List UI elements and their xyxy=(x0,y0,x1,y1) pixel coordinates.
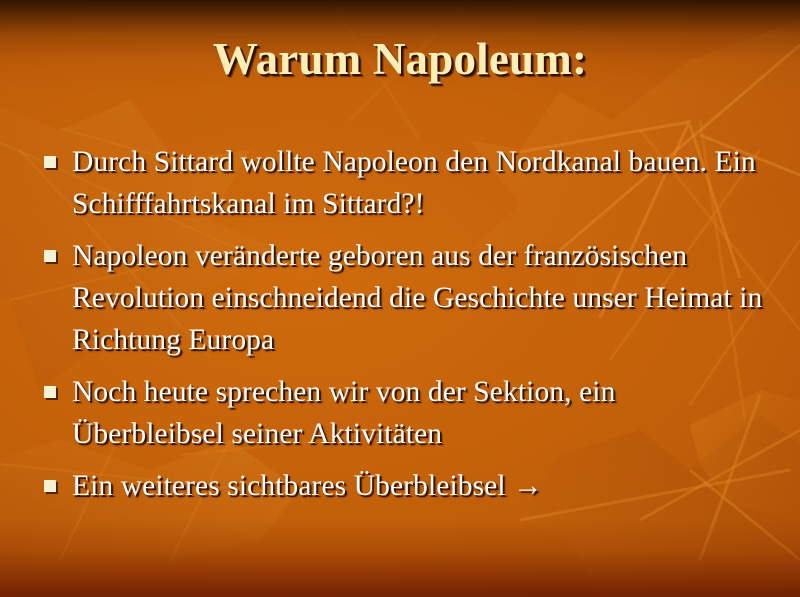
presentation-slide: Warum Napoleum: Durch Sittard wollte Nap… xyxy=(0,0,800,597)
list-item: Napoleon veränderte geboren aus der fran… xyxy=(36,235,766,361)
list-item: Noch heute sprechen wir von der Sektion,… xyxy=(36,371,766,455)
list-item: Ein weiteres sichtbares Überbleibsel → xyxy=(36,465,766,507)
square-bullet-icon xyxy=(44,480,56,492)
square-bullet-icon xyxy=(44,250,56,262)
list-item-text: Noch heute sprechen wir von der Sektion,… xyxy=(72,371,766,455)
list-item-text: Napoleon veränderte geboren aus der fran… xyxy=(72,235,766,361)
bottom-vignette xyxy=(0,519,800,597)
square-bullet-icon xyxy=(44,156,56,168)
list-item: Durch Sittard wollte Napoleon den Nordka… xyxy=(36,141,766,225)
slide-body-bullet-list: Durch Sittard wollte Napoleon den Nordka… xyxy=(36,141,766,517)
list-item-text: Ein weiteres sichtbares Überbleibsel → xyxy=(72,465,766,507)
square-bullet-icon xyxy=(44,386,56,398)
slide-title-block: Warum Napoleum: xyxy=(0,36,800,83)
page-title: Warum Napoleum: xyxy=(213,36,587,83)
list-item-text: Durch Sittard wollte Napoleon den Nordka… xyxy=(72,141,766,225)
